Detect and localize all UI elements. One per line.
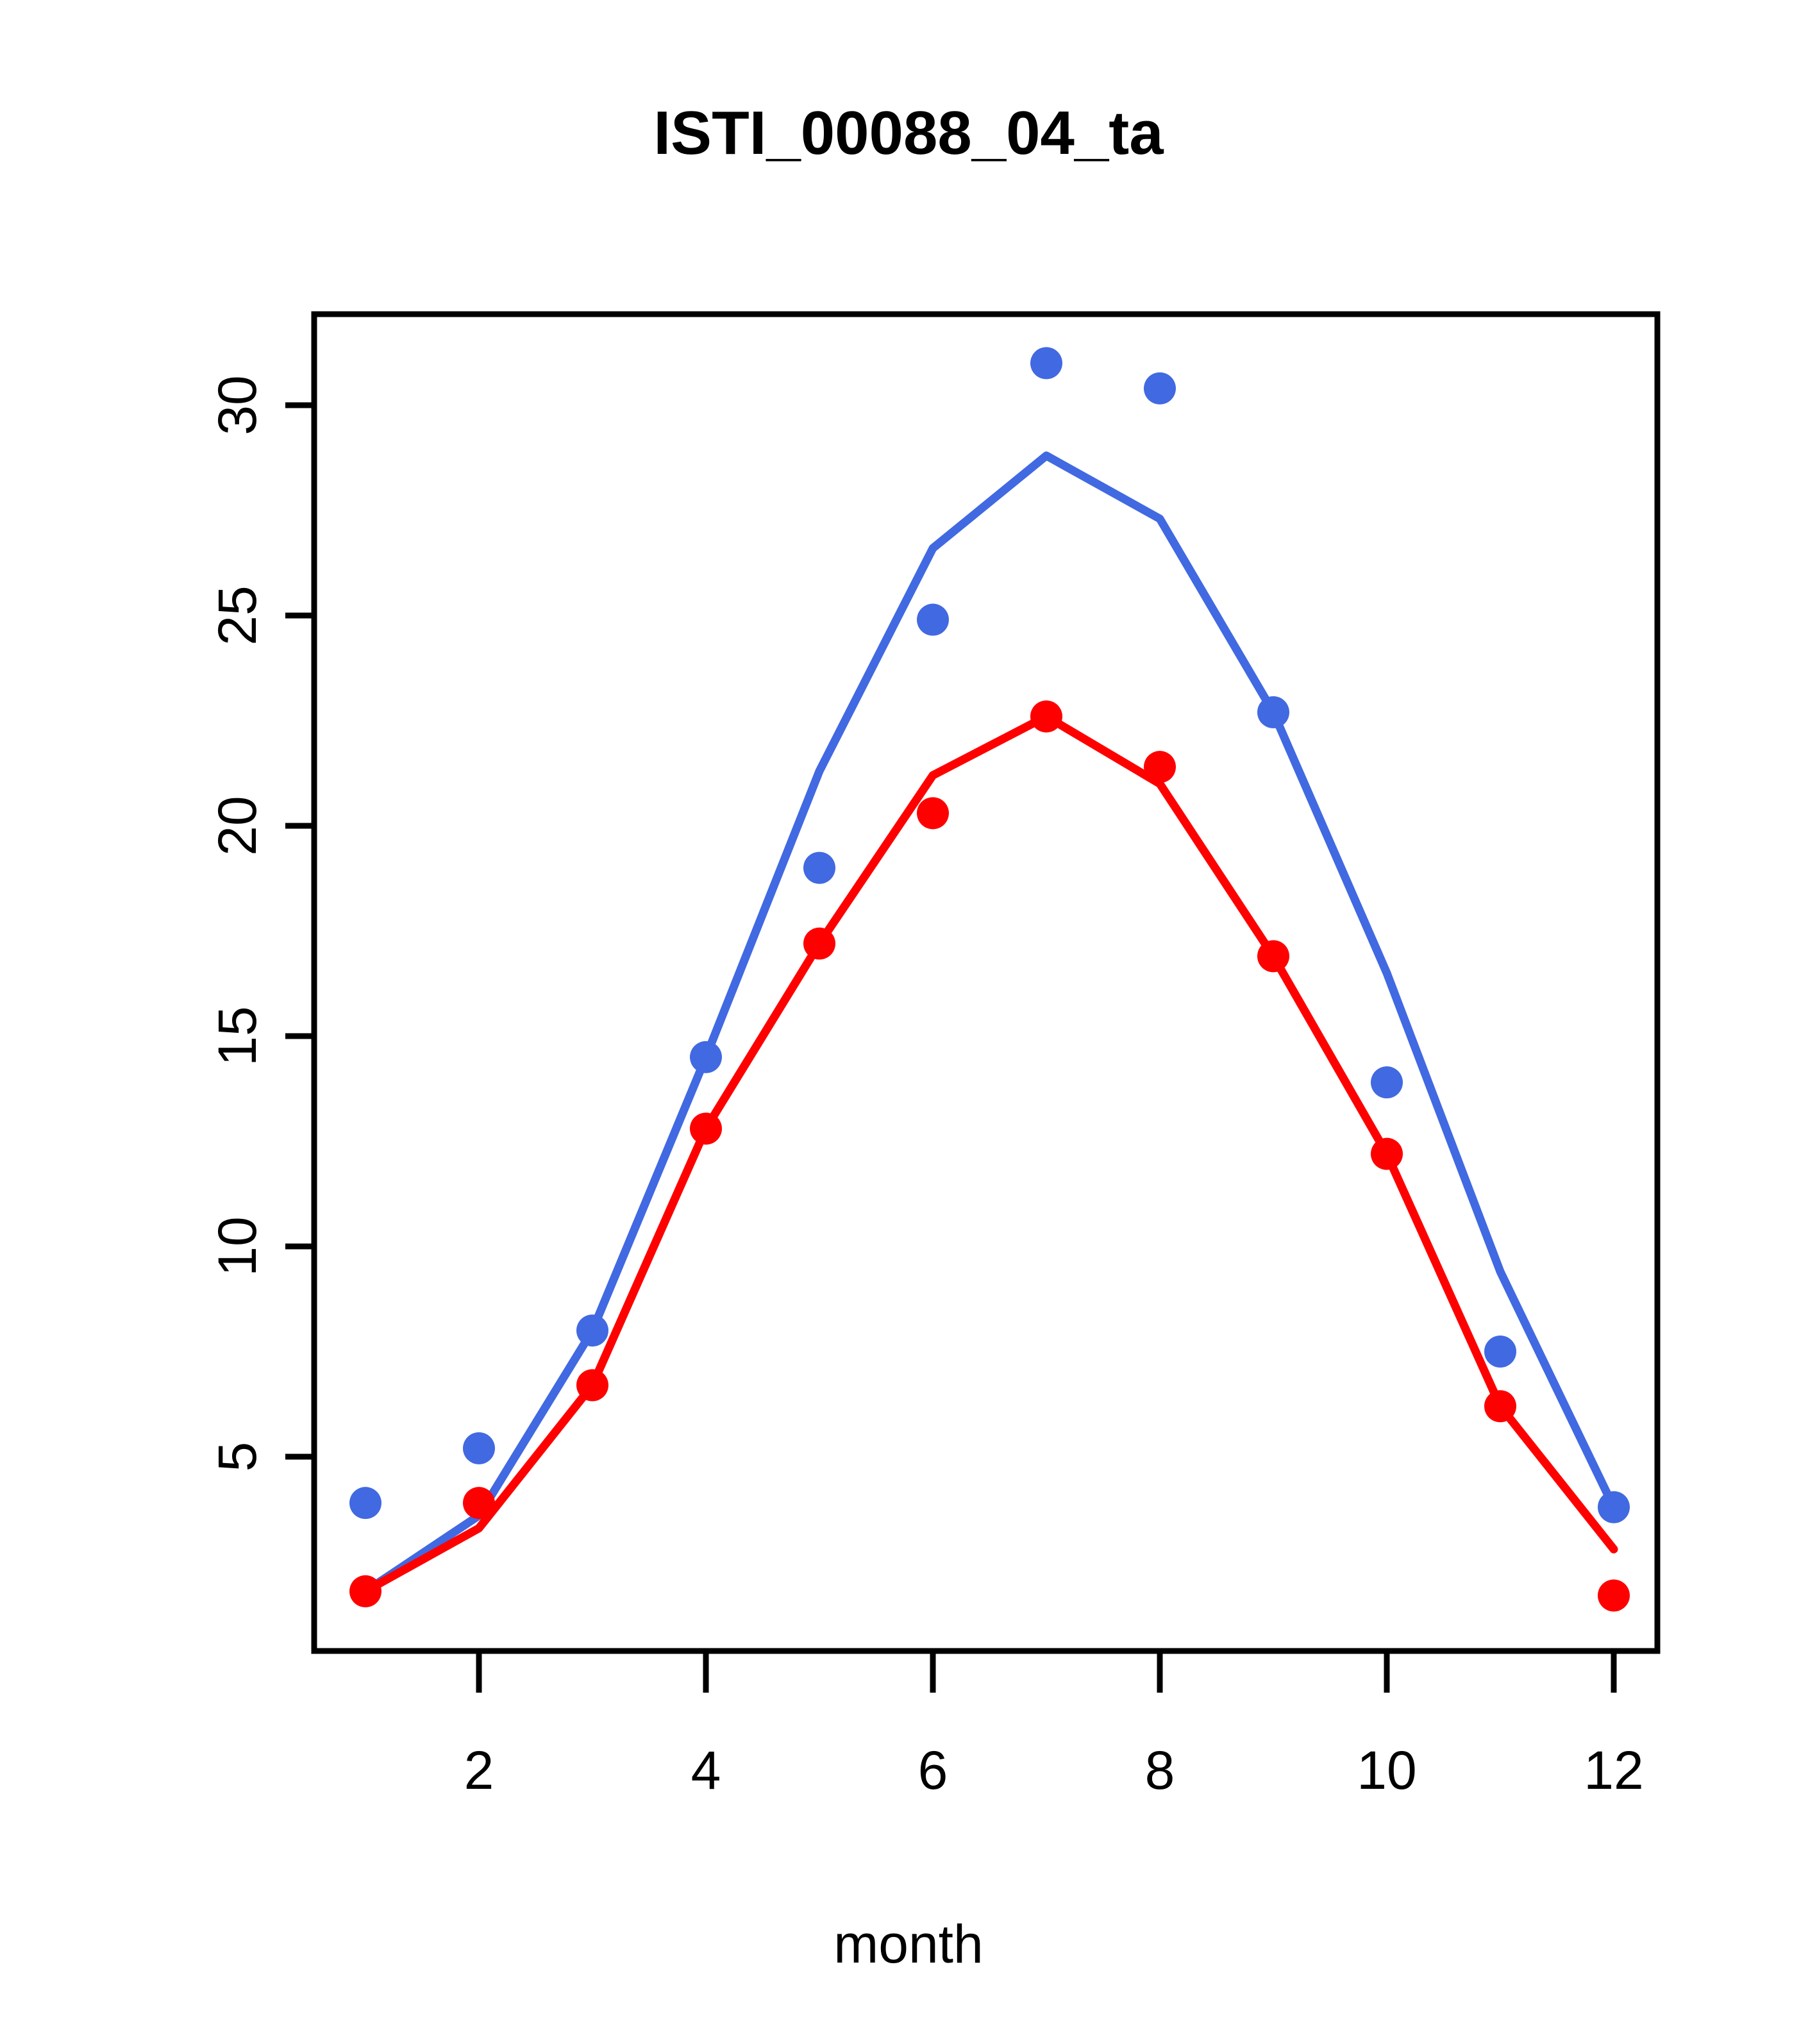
data-point-blue-points [1257, 696, 1289, 728]
data-point-red-points [1257, 940, 1289, 972]
data-point-blue-points [1030, 347, 1062, 379]
data-point-blue-points [349, 1487, 381, 1519]
data-point-red-points [1484, 1390, 1516, 1422]
data-point-blue-points [576, 1314, 608, 1346]
data-point-red-points [1598, 1579, 1630, 1611]
data-point-blue-points [1598, 1491, 1630, 1523]
data-point-blue-points [463, 1432, 495, 1464]
y-axis-ticks [285, 405, 314, 1457]
series-line-red-line [365, 716, 1614, 1591]
series-lines-group [365, 456, 1614, 1591]
y-tick-label: 15 [207, 1006, 267, 1066]
series-points-group [349, 347, 1630, 1611]
data-point-blue-points [803, 852, 835, 884]
chart-container: ISTI_00088_04_ta 51015202530 24681012 mo… [0, 0, 1817, 2044]
y-tick-label: 20 [207, 796, 267, 855]
x-axis-label: month [0, 1917, 1817, 1971]
data-point-blue-points [690, 1041, 722, 1073]
y-tick-label: 30 [207, 375, 267, 435]
x-tick-label: 4 [691, 1740, 721, 1800]
x-tick-label: 2 [464, 1740, 494, 1800]
x-tick-label: 10 [1357, 1740, 1416, 1800]
data-point-red-points [917, 797, 949, 829]
data-point-blue-points [1371, 1066, 1403, 1098]
data-point-red-points [1030, 700, 1062, 732]
data-point-red-points [1144, 751, 1176, 783]
x-tick-label: 12 [1584, 1740, 1643, 1800]
x-axis-ticks [479, 1651, 1614, 1693]
data-point-red-points [1371, 1138, 1403, 1170]
x-axis-tick-labels: 24681012 [464, 1740, 1644, 1800]
data-point-red-points [690, 1112, 722, 1144]
y-tick-label: 10 [207, 1216, 267, 1276]
x-tick-label: 6 [918, 1740, 948, 1800]
y-tick-label: 25 [207, 585, 267, 645]
data-point-red-points [803, 928, 835, 960]
data-point-red-points [463, 1487, 495, 1519]
y-tick-label: 5 [207, 1442, 267, 1472]
x-tick-label: 8 [1145, 1740, 1175, 1800]
data-point-red-points [349, 1575, 381, 1607]
data-point-blue-points [1144, 373, 1176, 405]
data-point-blue-points [1484, 1336, 1516, 1368]
data-point-blue-points [917, 604, 949, 636]
series-line-blue-line [365, 456, 1614, 1591]
data-point-red-points [576, 1369, 608, 1401]
plot-svg: 51015202530 24681012 [0, 0, 1817, 2044]
y-axis-tick-labels: 51015202530 [207, 375, 267, 1471]
